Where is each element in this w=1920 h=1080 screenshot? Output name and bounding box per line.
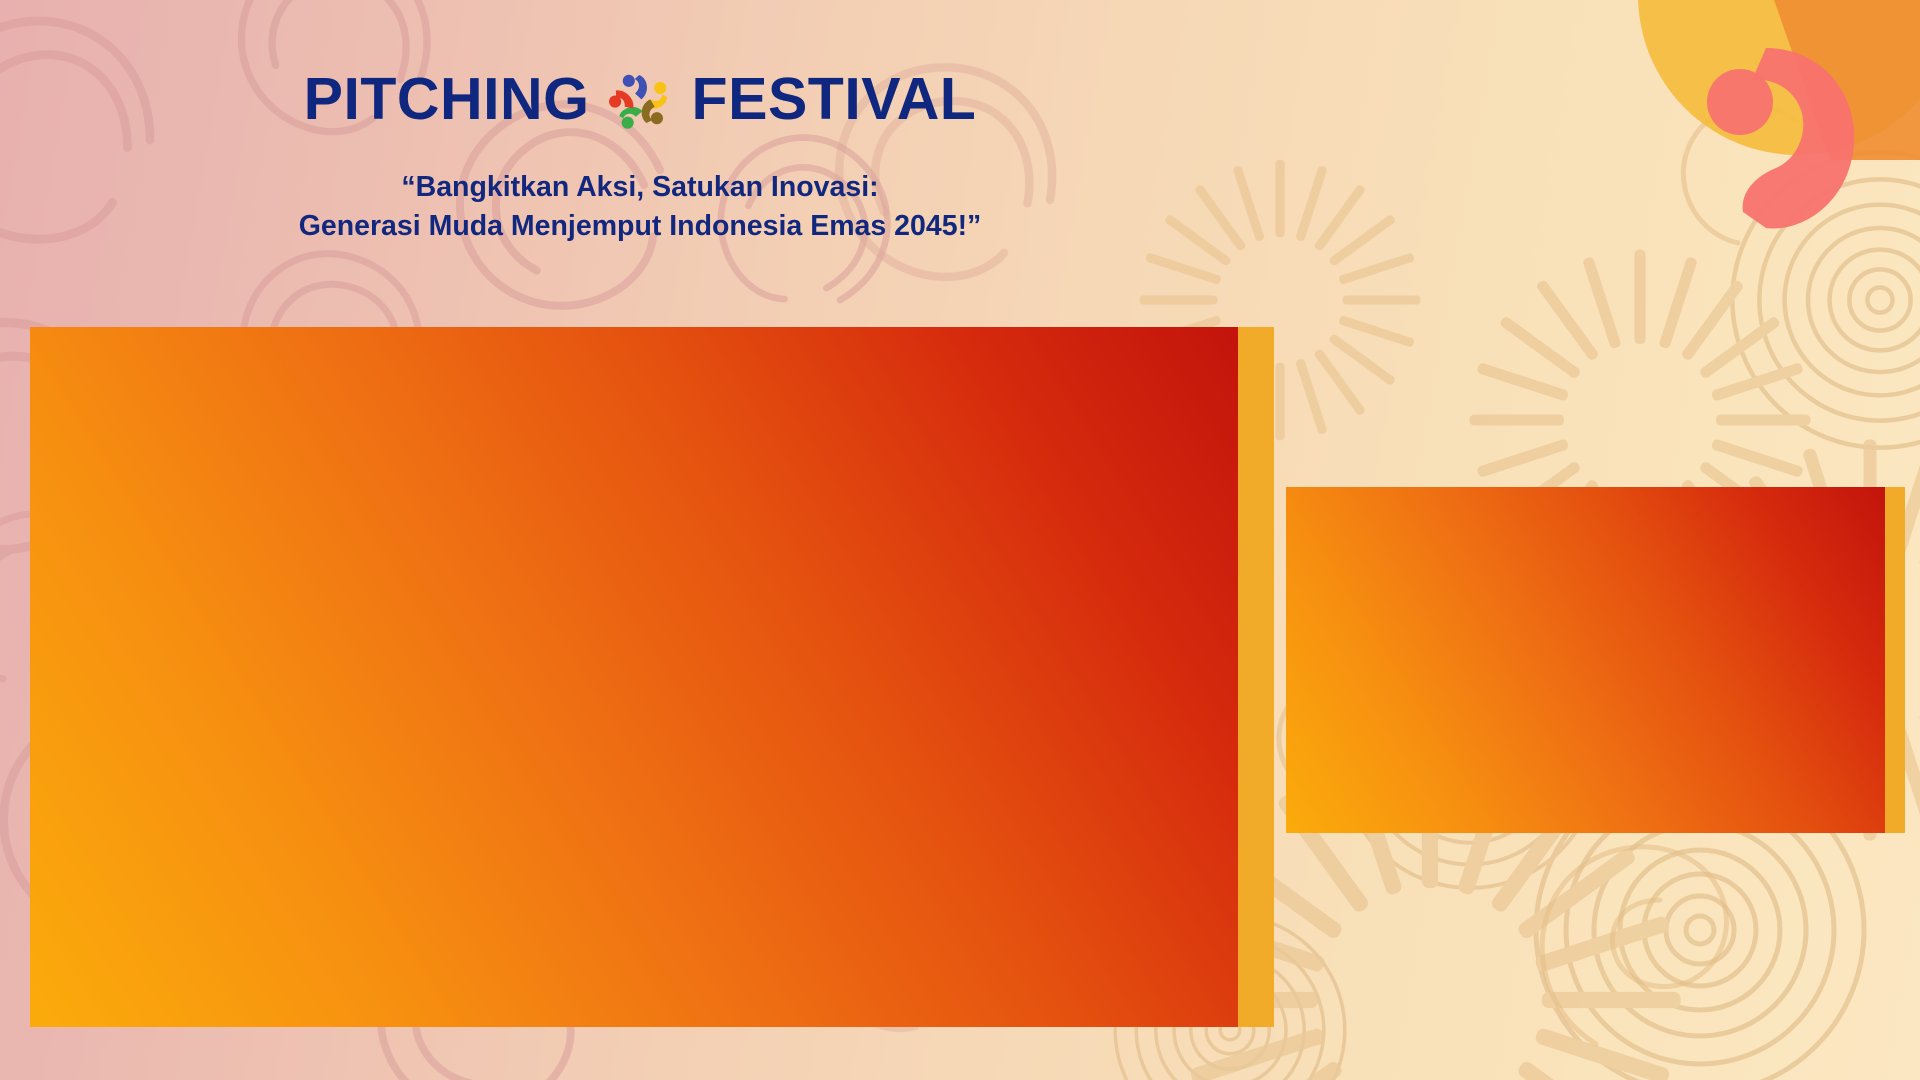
secondary-media-surface[interactable]	[1286, 487, 1885, 833]
brand-word-pitching: PITCHING	[304, 70, 590, 129]
orange-diagonal-block	[1760, 0, 1920, 160]
secondary-media-panel[interactable]	[1286, 487, 1905, 833]
yellow-circle-shape	[1638, 0, 1920, 155]
main-media-panel[interactable]	[30, 327, 1304, 1027]
event-tagline: “Bangkitkan Aksi, Satukan Inovasi: Gener…	[0, 168, 1280, 247]
corner-decoration	[1580, 0, 1920, 230]
pinwheel-people-logo	[604, 62, 678, 136]
coral-arc-shape	[1743, 48, 1855, 228]
brand-word-festival: FESTIVAL	[692, 70, 977, 129]
logo-figure-red	[609, 90, 633, 108]
tagline-line-2: Generasi Muda Menjemput Indonesia Emas 2…	[0, 207, 1280, 246]
main-panel-accent-bar	[1238, 327, 1274, 1027]
brand-lockup: PITCHING	[0, 62, 1280, 136]
main-media-surface[interactable]	[30, 327, 1238, 1027]
coral-dot-shape	[1707, 69, 1773, 135]
tagline-line-1: “Bangkitkan Aksi, Satukan Inovasi:	[0, 168, 1280, 207]
page-header: PITCHING	[0, 0, 1280, 247]
logo-figure-green	[619, 107, 642, 129]
secondary-panel-accent-bar	[1885, 487, 1905, 833]
